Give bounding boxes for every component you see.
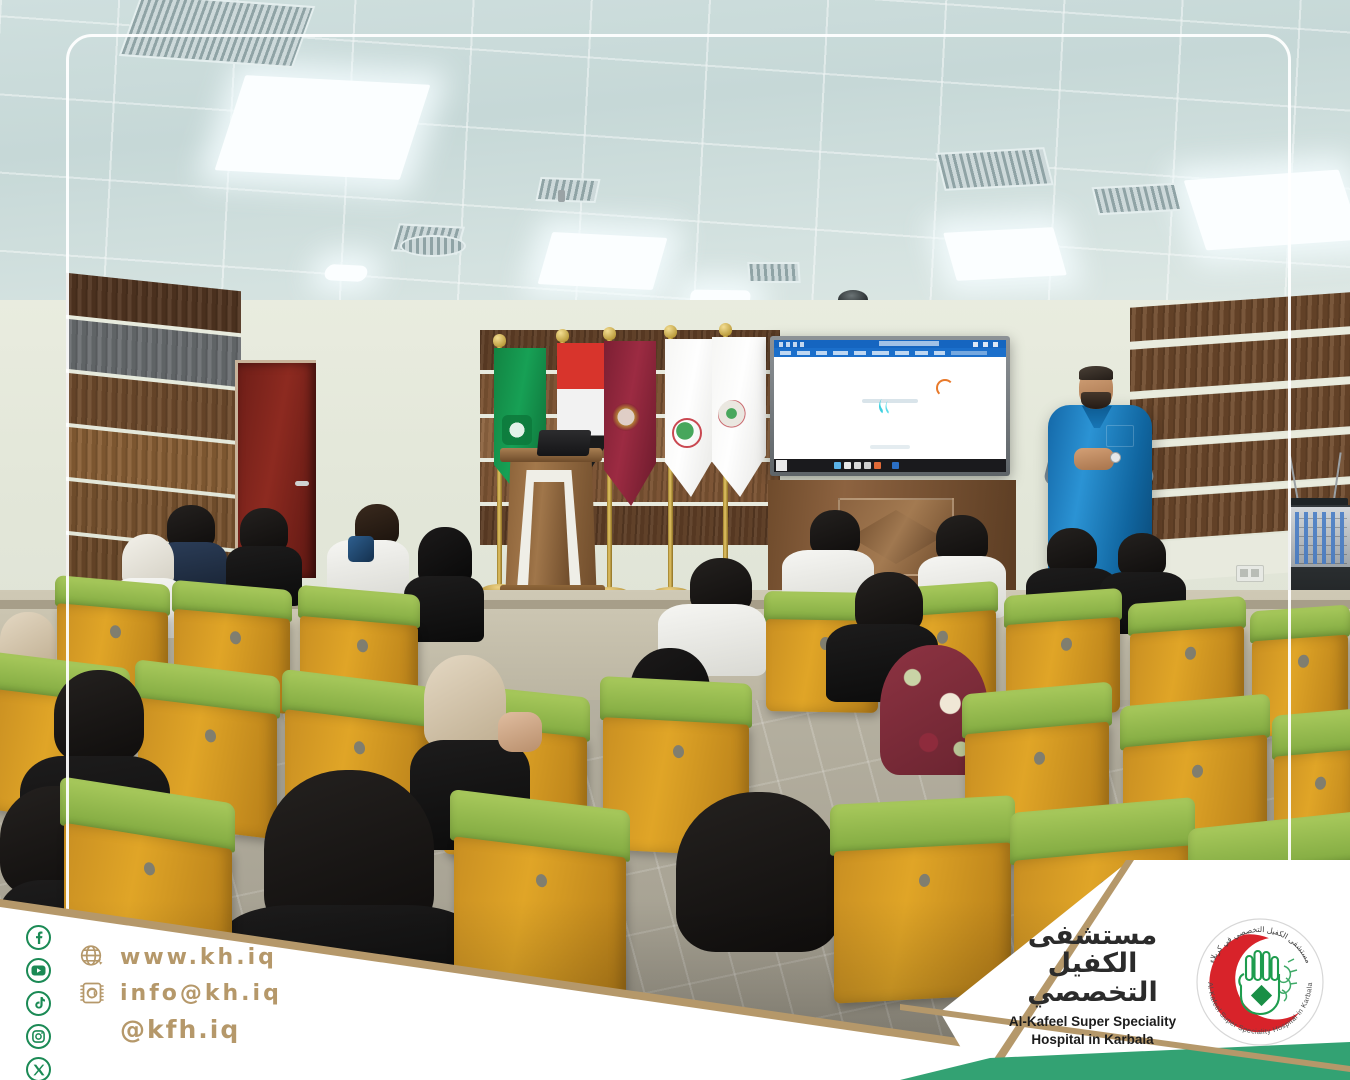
contact-row-website[interactable]: www.kh.iq xyxy=(78,943,282,971)
loading-spinner-icon xyxy=(936,379,954,397)
air-vent xyxy=(119,0,316,68)
contact-row-handle[interactable]: @kfh.iq xyxy=(78,1015,282,1044)
ceiling-light-panel xyxy=(538,232,668,290)
brand-english-line1: Al-Kafeel Super Speciality xyxy=(1000,1013,1185,1031)
wristwatch xyxy=(1110,452,1121,463)
brand-arabic-name: مستشفى الكفيل التخصصي xyxy=(1000,922,1185,1007)
screen-logo-icon xyxy=(877,397,893,414)
flag-emblem xyxy=(502,415,532,445)
instagram-icon[interactable] xyxy=(26,1024,51,1049)
presenter-pocket xyxy=(1106,425,1134,447)
flag-emblem xyxy=(672,418,702,448)
screen-taskbar xyxy=(774,459,1006,472)
screen-start-button xyxy=(776,460,787,471)
facebook-icon[interactable] xyxy=(26,925,51,950)
globe-icon xyxy=(78,943,106,971)
social-links xyxy=(26,925,51,1080)
presenter-hair xyxy=(1079,366,1113,380)
audience-head xyxy=(418,527,472,583)
ceiling xyxy=(0,0,1350,330)
power-socket xyxy=(1236,565,1264,582)
flag-emblem xyxy=(718,400,748,430)
tiktok-icon[interactable] xyxy=(26,991,51,1016)
brand-block: مستشفى الكفيل التخصصي Al-Kafeel Super Sp… xyxy=(1000,922,1185,1049)
audio-amplifier xyxy=(1288,505,1350,571)
screen-titlebar xyxy=(774,340,1006,348)
laptop xyxy=(537,430,592,456)
screen-ribbon xyxy=(774,348,1006,357)
screen-content xyxy=(774,340,1006,472)
screen-page xyxy=(774,357,1006,459)
audience-head xyxy=(424,655,506,747)
x-icon[interactable] xyxy=(26,1057,51,1080)
presenter-beard xyxy=(1081,392,1111,409)
handle-text: @kfh.iq xyxy=(120,1015,240,1044)
air-vent xyxy=(535,177,600,203)
youtube-icon[interactable] xyxy=(26,958,51,983)
ceiling-light-panel xyxy=(1184,170,1350,251)
air-vent xyxy=(1092,183,1183,215)
mail-card-icon xyxy=(78,979,106,1007)
projector-screen[interactable] xyxy=(770,336,1010,476)
audience-head xyxy=(54,670,144,762)
audience-head xyxy=(1118,533,1166,577)
al-kafeel-hospital-logo: Al-Kafeel Super Speciality Hospital in K… xyxy=(1194,916,1326,1048)
presenter-hands xyxy=(1074,448,1114,470)
ceiling-light-panel xyxy=(215,75,431,180)
email-text: info@kh.iq xyxy=(120,981,282,1006)
contact-row-email[interactable]: info@kh.iq xyxy=(78,979,282,1007)
flag-emblem xyxy=(612,403,640,431)
air-vent xyxy=(935,147,1053,191)
website-text: www.kh.iq xyxy=(120,945,277,970)
ceiling-light-panel xyxy=(943,227,1067,281)
podium-inset xyxy=(528,482,570,587)
contact-info: www.kh.iq info@kh.iq @kfh.iq xyxy=(78,943,282,1052)
air-vent xyxy=(747,262,800,283)
audience-hand xyxy=(498,712,542,752)
brand-english-line2: Hospital in Karbala xyxy=(1000,1031,1185,1049)
round-vent xyxy=(400,235,466,257)
sprinkler-icon xyxy=(558,190,565,202)
audience-scarf xyxy=(348,536,374,562)
poster-canvas: www.kh.iq info@kh.iq @kfh.iq مستشفى الكف… xyxy=(0,0,1350,1080)
ceiling-light-panel xyxy=(323,264,370,282)
